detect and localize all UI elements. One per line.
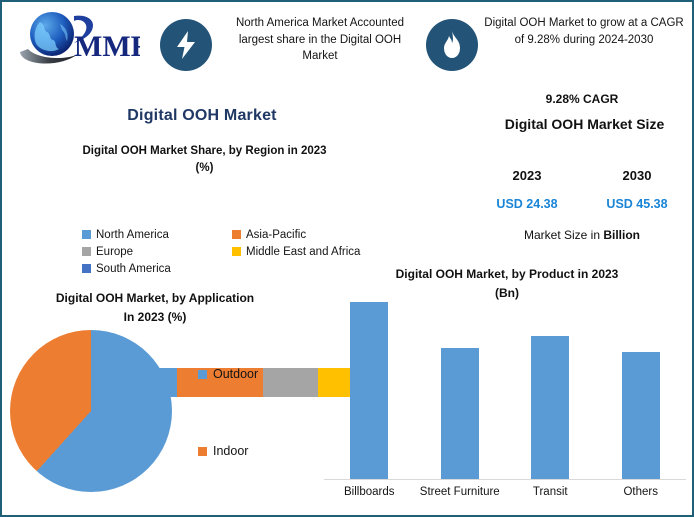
product-chart-title-line2: (Bn) — [332, 284, 682, 303]
legend-label: South America — [96, 263, 171, 275]
market-size-unit-prefix: Market Size in — [524, 228, 603, 242]
product-x-label: Billboards — [324, 486, 415, 498]
market-size-value-start: USD 24.38 — [496, 197, 557, 211]
svg-text:MMR: MMR — [74, 30, 140, 63]
region-chart-title-line1: Digital OOH Market Share, by Region in 2… — [32, 143, 377, 160]
legend-label-outdoor: Outdoor — [213, 367, 258, 381]
header-highlight-right: Digital OOH Market to grow at a CAGR of … — [484, 15, 684, 48]
product-bar-street-furniture — [441, 348, 479, 480]
application-chart-title-line2: In 2023 (%) — [10, 308, 300, 327]
market-size-years: 2023 2030 — [472, 168, 692, 183]
region-chart-title: Digital OOH Market Share, by Region in 2… — [32, 143, 377, 177]
market-size-value-end: USD 45.38 — [606, 197, 667, 211]
product-x-label: Transit — [505, 486, 596, 498]
legend-label: Middle East and Africa — [246, 246, 360, 258]
product-bar-billboards — [350, 302, 388, 480]
product-bar-column — [596, 302, 687, 480]
product-bar-column — [415, 302, 506, 480]
market-size-unit: Market Size in Billion — [472, 228, 692, 242]
product-chart-x-labels: BillboardsStreet FurnitureTransitOthers — [324, 486, 686, 498]
product-bar-column — [505, 302, 596, 480]
header: MMR North America Market Accounted large… — [2, 2, 692, 84]
product-x-label: Others — [596, 486, 687, 498]
legend-item-outdoor: Outdoor — [198, 367, 298, 381]
legend-item-north-america: North America — [82, 226, 232, 243]
legend-item-europe: Europe — [82, 243, 232, 260]
application-chart-title-line1: Digital OOH Market, by Application — [10, 289, 300, 308]
legend-swatch — [82, 247, 91, 256]
legend-item-south-america: South America — [82, 260, 232, 277]
application-legend: Outdoor Indoor — [198, 367, 298, 458]
flame-icon — [440, 30, 464, 60]
product-bar-chart — [324, 302, 686, 480]
cagr-value: 9.28% CAGR — [472, 92, 692, 106]
panel-divider — [466, 86, 467, 258]
market-size-values: USD 24.38 USD 45.38 — [472, 197, 692, 211]
product-bar-column — [324, 302, 415, 480]
lightning-bolt-icon — [173, 30, 199, 60]
market-size-year-end: 2030 — [623, 168, 652, 183]
region-chart-title-line2: (%) — [32, 160, 377, 177]
infographic-frame: MMR North America Market Accounted large… — [0, 0, 694, 517]
product-x-label: Street Furniture — [415, 486, 506, 498]
legend-swatch-outdoor — [198, 370, 207, 379]
globe-swoosh-logo-icon: MMR — [16, 8, 140, 70]
product-bar-others — [622, 352, 660, 480]
product-bar-transit — [531, 336, 569, 480]
lightning-bolt-icon-badge — [160, 19, 212, 71]
legend-item-indoor: Indoor — [198, 444, 298, 458]
market-size-title: Digital OOH Market Size — [492, 115, 677, 134]
product-chart-title-line1: Digital OOH Market, by Product in 2023 — [332, 265, 682, 284]
application-pie-chart — [10, 330, 172, 492]
legend-label-indoor: Indoor — [213, 444, 248, 458]
application-chart-title: Digital OOH Market, by Application In 20… — [10, 289, 300, 327]
legend-item-middle-east-and-africa: Middle East and Africa — [232, 243, 382, 260]
legend-swatch — [82, 264, 91, 273]
mmr-logo: MMR — [16, 8, 140, 70]
market-size-year-start: 2023 — [513, 168, 542, 183]
page-title: Digital OOH Market — [2, 107, 402, 125]
product-chart-title: Digital OOH Market, by Product in 2023 (… — [332, 265, 682, 303]
region-stacked-bar-chart: 2023 — [2, 182, 402, 227]
legend-label: Asia-Pacific — [246, 229, 306, 241]
legend-swatch — [232, 247, 241, 256]
market-size-unit-bold: Billion — [603, 228, 640, 242]
header-highlight-left: North America Market Accounted largest s… — [220, 15, 420, 65]
legend-label: North America — [96, 229, 169, 241]
product-chart-baseline — [324, 479, 686, 480]
legend-label: Europe — [96, 246, 133, 258]
legend-swatch — [232, 230, 241, 239]
legend-swatch-indoor — [198, 447, 207, 456]
flame-icon-badge — [426, 19, 478, 71]
legend-swatch — [82, 230, 91, 239]
legend-item-asia-pacific: Asia-Pacific — [232, 226, 382, 243]
